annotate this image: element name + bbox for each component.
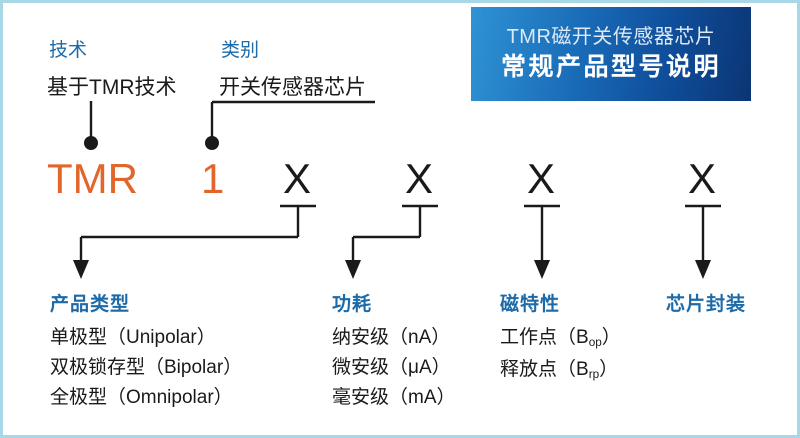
list-item: 工作点（Bop） (500, 323, 621, 355)
list-item: 全极型（Omnipolar） (50, 383, 242, 413)
list-item: 纳安级（nA） (332, 323, 456, 353)
header-banner: TMR磁开关传感器芯片 常规产品型号说明 (471, 7, 751, 101)
annotation-tag-technology: 技术 (49, 35, 87, 62)
code-part-series: 1 (201, 158, 224, 200)
arrowhead-power (345, 260, 361, 279)
annotation-value-category: 开关传感器芯片 (219, 71, 366, 101)
leader-dot-technology (84, 136, 98, 150)
arrowhead-product-type (73, 260, 89, 279)
list-item: 毫安级（mA） (332, 383, 456, 413)
column-header-product-type: 产品类型 (50, 289, 130, 316)
banner-title: 常规产品型号说明 (501, 52, 721, 83)
code-part-tmr: TMR (47, 158, 138, 200)
list-item: 释放点（Brp） (500, 355, 621, 387)
banner-subtitle: TMR磁开关传感器芯片 (507, 25, 716, 50)
code-part-x3: X (527, 158, 555, 200)
list-item: 微安级（μA） (332, 353, 456, 383)
code-part-x1: X (283, 158, 311, 200)
column-items-product-type: 单极型（Unipolar） 双极锁存型（Bipolar） 全极型（Omnipol… (50, 323, 242, 413)
arrowhead-package (695, 260, 711, 279)
annotation-value-technology: 基于TMR技术 (47, 71, 177, 101)
list-item: 双极锁存型（Bipolar） (50, 353, 242, 383)
column-items-magnetic: 工作点（Bop） 释放点（Brp） (500, 323, 621, 387)
column-items-power: 纳安级（nA） 微安级（μA） 毫安级（mA） (332, 323, 456, 413)
list-item: 单极型（Unipolar） (50, 323, 242, 353)
leader-dot-category (205, 136, 219, 150)
diagram-canvas: TMR磁开关传感器芯片 常规产品型号说明 技术 基于TMR技术 类别 开关传感器… (0, 0, 800, 438)
annotation-tag-category: 类别 (221, 35, 259, 62)
arrowhead-magnetic (534, 260, 550, 279)
column-header-magnetic: 磁特性 (500, 289, 560, 316)
code-part-x4: X (688, 158, 716, 200)
column-header-package: 芯片封装 (666, 289, 746, 316)
code-part-x2: X (405, 158, 433, 200)
column-header-power: 功耗 (332, 289, 372, 316)
